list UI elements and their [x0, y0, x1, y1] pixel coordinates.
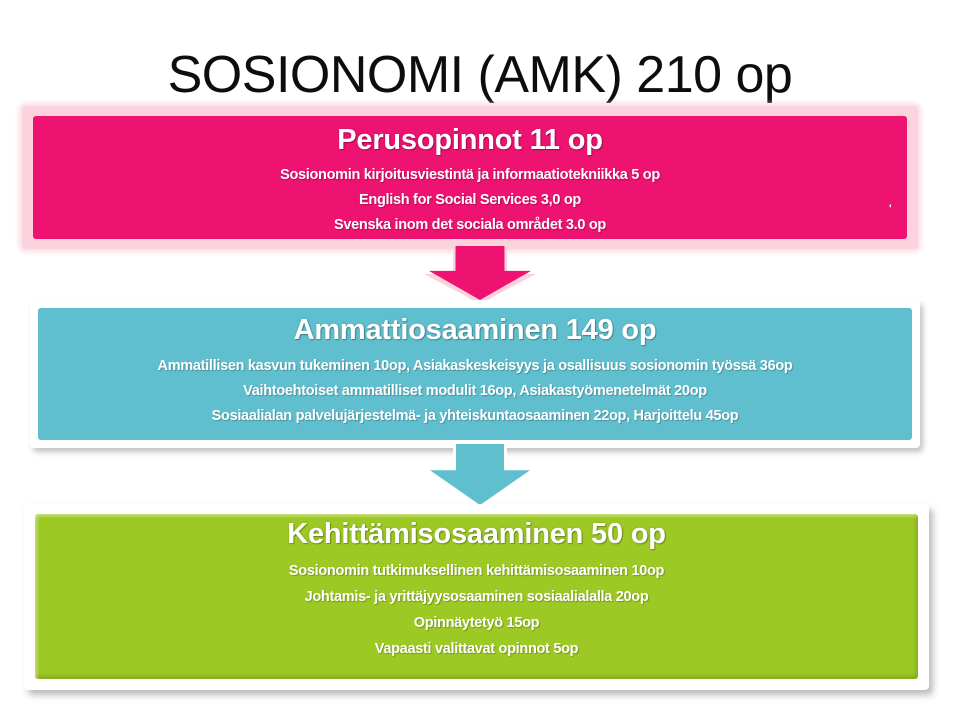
block-kehittamisosaaminen-heading: Kehittämisosaaminen 50 op [24, 518, 929, 551]
block-perusopinnot[interactable]: Perusopinnot 11 op Sosionomin kirjoitusv… [22, 106, 918, 249]
stray-mark-artifact: ' [889, 205, 895, 214]
block-kehittamisosaaminen-line-3: Opinnäytetyö 15op [24, 615, 929, 631]
pink-down-arrow-icon [424, 246, 536, 304]
block-perusopinnot-content: Perusopinnot 11 op Sosionomin kirjoitusv… [22, 106, 918, 242]
block-kehittamisosaaminen-content: Kehittämisosaaminen 50 op Sosionomin tut… [24, 504, 929, 667]
block-ammattiosaaminen[interactable]: Ammattiosaaminen 149 op Ammatillisen kas… [30, 300, 920, 448]
block-perusopinnot-line-2: English for Social Services 3,0 op [22, 192, 918, 208]
block-kehittamisosaaminen-line-2: Johtamis- ja yrittäjyysosaaminen sosiaal… [24, 589, 929, 605]
page-title: SOSIONOMI (AMK) 210 op [0, 48, 960, 103]
block-ammattiosaaminen-heading: Ammattiosaaminen 149 op [30, 314, 920, 347]
block-kehittamisosaaminen-line-1: Sosionomin tutkimuksellinen kehittämisos… [24, 563, 929, 579]
block-perusopinnot-line-3: Svenska inom det sociala området 3.0 op [22, 217, 918, 233]
teal-arrow-fill [430, 444, 530, 505]
block-ammattiosaaminen-line-3: Sosiaalialan palvelujärjestelmä- ja yhte… [30, 408, 920, 424]
block-ammattiosaaminen-line-2: Vaihtoehtoiset ammatilliset modulit 16op… [30, 383, 920, 399]
block-perusopinnot-heading: Perusopinnot 11 op [22, 124, 918, 157]
block-ammattiosaaminen-content: Ammattiosaaminen 149 op Ammatillisen kas… [30, 300, 920, 433]
pink-arrow-fill [429, 246, 531, 300]
block-kehittamisosaaminen[interactable]: Kehittämisosaaminen 50 op Sosionomin tut… [24, 504, 929, 690]
teal-down-arrow-icon [424, 444, 536, 510]
block-kehittamisosaaminen-line-4: Vapaasti valittavat opinnot 5op [24, 641, 929, 657]
block-perusopinnot-line-1: Sosionomin kirjoitusviestintä ja informa… [22, 167, 918, 183]
block-ammattiosaaminen-line-1: Ammatillisen kasvun tukeminen 10op, Asia… [30, 358, 920, 374]
